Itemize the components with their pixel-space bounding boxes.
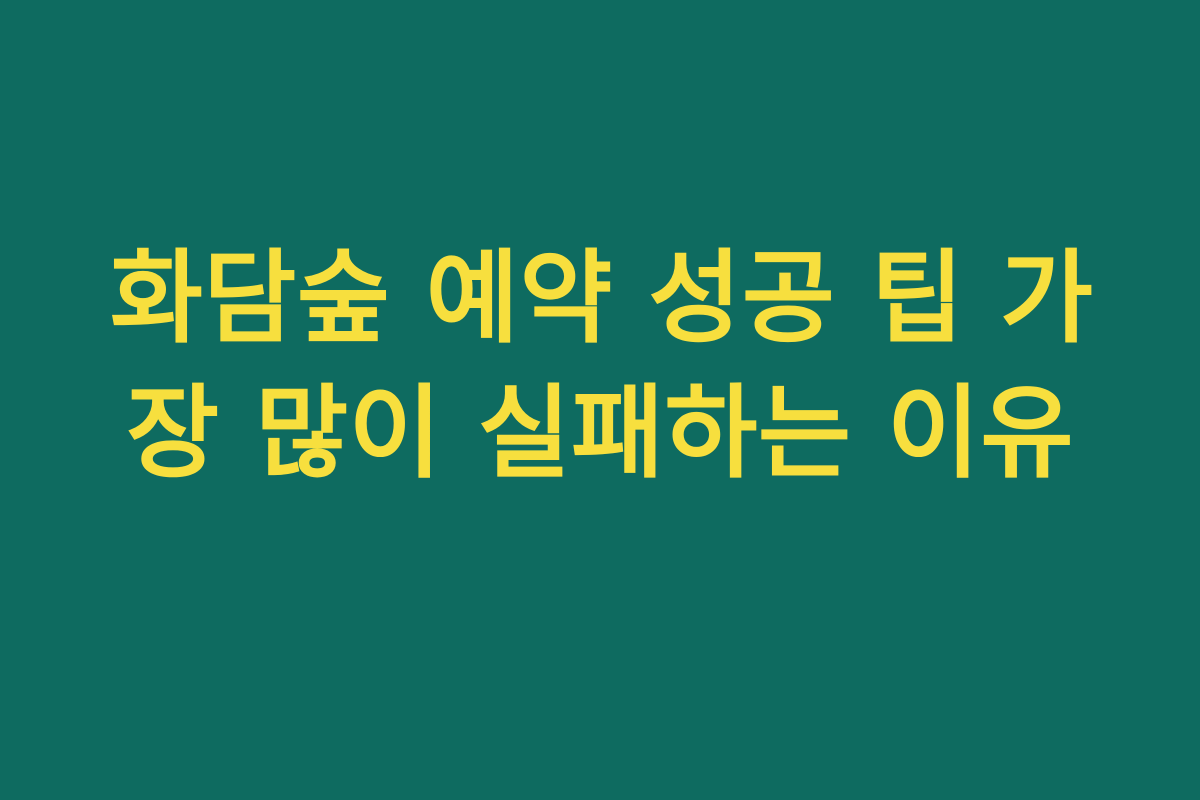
title-line-2: 장 많이 실패하는 이유 (110, 366, 1090, 501)
page-title: 화담숲 예약 성공 팁 가 장 많이 실패하는 이유 (110, 231, 1090, 501)
banner-canvas: 화담숲 예약 성공 팁 가 장 많이 실패하는 이유 (0, 0, 1200, 800)
title-line-1: 화담숲 예약 성공 팁 가 (110, 231, 1090, 366)
